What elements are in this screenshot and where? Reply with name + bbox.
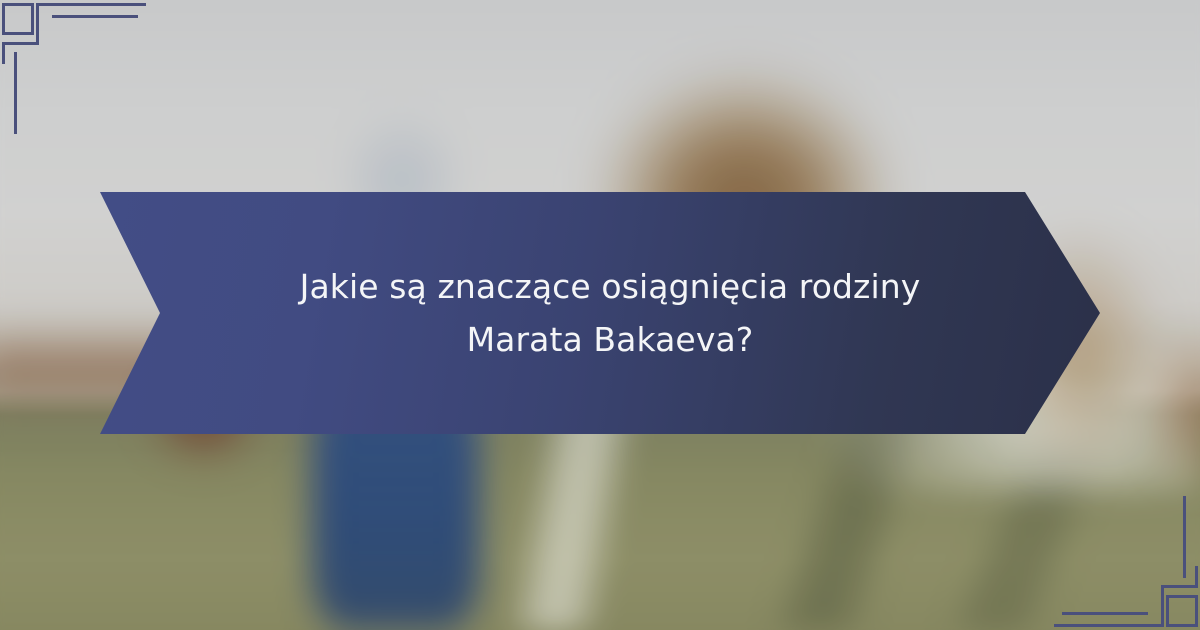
ornament-bracket-drop [1195, 566, 1198, 588]
ornament-rule-horizontal [1062, 612, 1148, 615]
question-banner: Jakie są znaczące osiągnięcia rodziny Ma… [100, 192, 1100, 434]
ornament-bracket-foot [1161, 585, 1198, 588]
ornament-bracket-drop [2, 42, 5, 64]
ornament-bracket-horizontal [1054, 624, 1164, 627]
ornament-rule-vertical [14, 52, 17, 134]
ornament-rule-horizontal [52, 15, 138, 18]
ornament-rule-vertical [1183, 496, 1186, 578]
image-canvas: Jakie są znaczące osiągnięcia rodziny Ma… [0, 0, 1200, 630]
ornament-bracket-foot [2, 42, 39, 45]
ornament-bracket-vertical [36, 3, 39, 45]
ornament-bracket-vertical [1161, 585, 1164, 627]
ornament-square [2, 3, 34, 35]
ornament-bracket-horizontal [36, 3, 146, 6]
ornament-square [1166, 595, 1198, 627]
question-text: Jakie są znaczące osiągnięcia rodziny Ma… [240, 260, 980, 367]
